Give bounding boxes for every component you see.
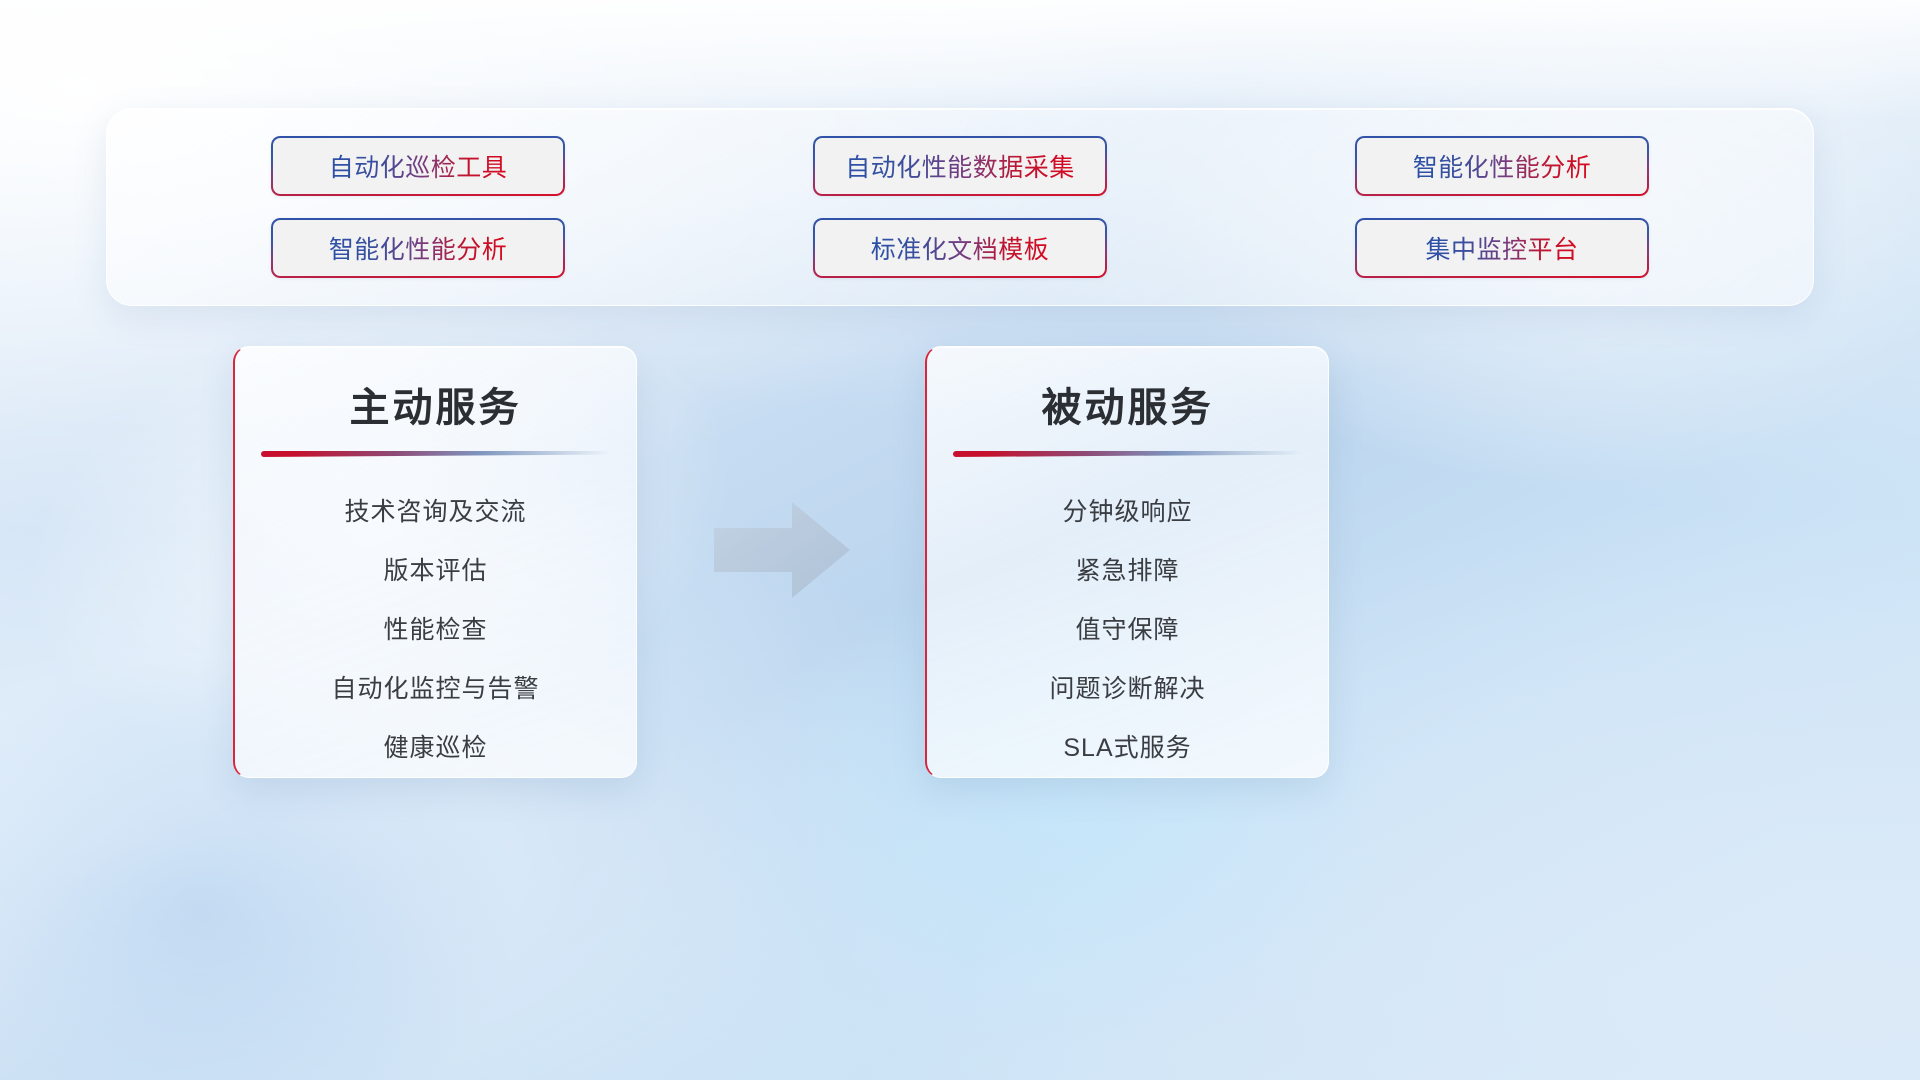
service-card-reactive[interactable]: 被动服务 分钟级响应 紧急排障 值守保障 问题诊断解决 SLA式服务	[925, 346, 1329, 778]
service-item-list: 分钟级响应 紧急排障 值守保障 问题诊断解决 SLA式服务	[953, 483, 1302, 778]
slide-canvas: 自动化巡检工具 自动化性能数据采集 智能化性能分析 智能化性能分析 标准化文档模…	[0, 0, 1920, 1080]
arrow-right-icon	[714, 498, 850, 602]
capability-pill-label: 自动化性能数据采集	[845, 148, 1075, 184]
capability-pill-1[interactable]: 自动化巡检工具	[271, 136, 565, 196]
service-list-item[interactable]: 自动化监控与告警	[261, 660, 610, 719]
title-divider	[953, 451, 1302, 457]
capability-pill-5[interactable]: 标准化文档模板	[813, 218, 1107, 278]
service-card-title: 主动服务	[261, 383, 610, 433]
service-card-proactive[interactable]: 主动服务 技术咨询及交流 版本评估 性能检查 自动化监控与告警 健康巡检	[233, 346, 637, 778]
capability-pill-label: 自动化巡检工具	[329, 148, 508, 184]
capability-pill-2[interactable]: 自动化性能数据采集	[813, 136, 1107, 196]
capability-pill-label: 标准化文档模板	[871, 230, 1050, 266]
capability-pill-label: 智能化性能分析	[1413, 148, 1592, 184]
service-card-title: 被动服务	[953, 383, 1302, 433]
title-divider	[261, 451, 610, 457]
capability-pill-label: 集中监控平台	[1425, 230, 1578, 266]
service-list-item[interactable]: 版本评估	[261, 542, 610, 601]
capabilities-panel: 自动化巡检工具 自动化性能数据采集 智能化性能分析 智能化性能分析 标准化文档模…	[106, 108, 1814, 306]
capability-pill-6[interactable]: 集中监控平台	[1355, 218, 1649, 278]
background-top-fade	[0, 0, 1920, 120]
service-list-item[interactable]: 值守保障	[953, 601, 1302, 660]
service-list-item[interactable]: 紧急排障	[953, 542, 1302, 601]
service-list-item[interactable]: 性能检查	[261, 601, 610, 660]
service-list-item[interactable]: 问题诊断解决	[953, 660, 1302, 719]
capability-pill-3[interactable]: 智能化性能分析	[1355, 136, 1649, 196]
capability-pill-label: 智能化性能分析	[329, 230, 508, 266]
service-item-list: 技术咨询及交流 版本评估 性能检查 自动化监控与告警 健康巡检	[261, 483, 610, 778]
service-list-item[interactable]: 分钟级响应	[953, 483, 1302, 542]
service-list-item[interactable]: 健康巡检	[261, 719, 610, 778]
capability-pill-4[interactable]: 智能化性能分析	[271, 218, 565, 278]
service-list-item[interactable]: 技术咨询及交流	[261, 483, 610, 542]
service-list-item[interactable]: SLA式服务	[953, 719, 1302, 778]
